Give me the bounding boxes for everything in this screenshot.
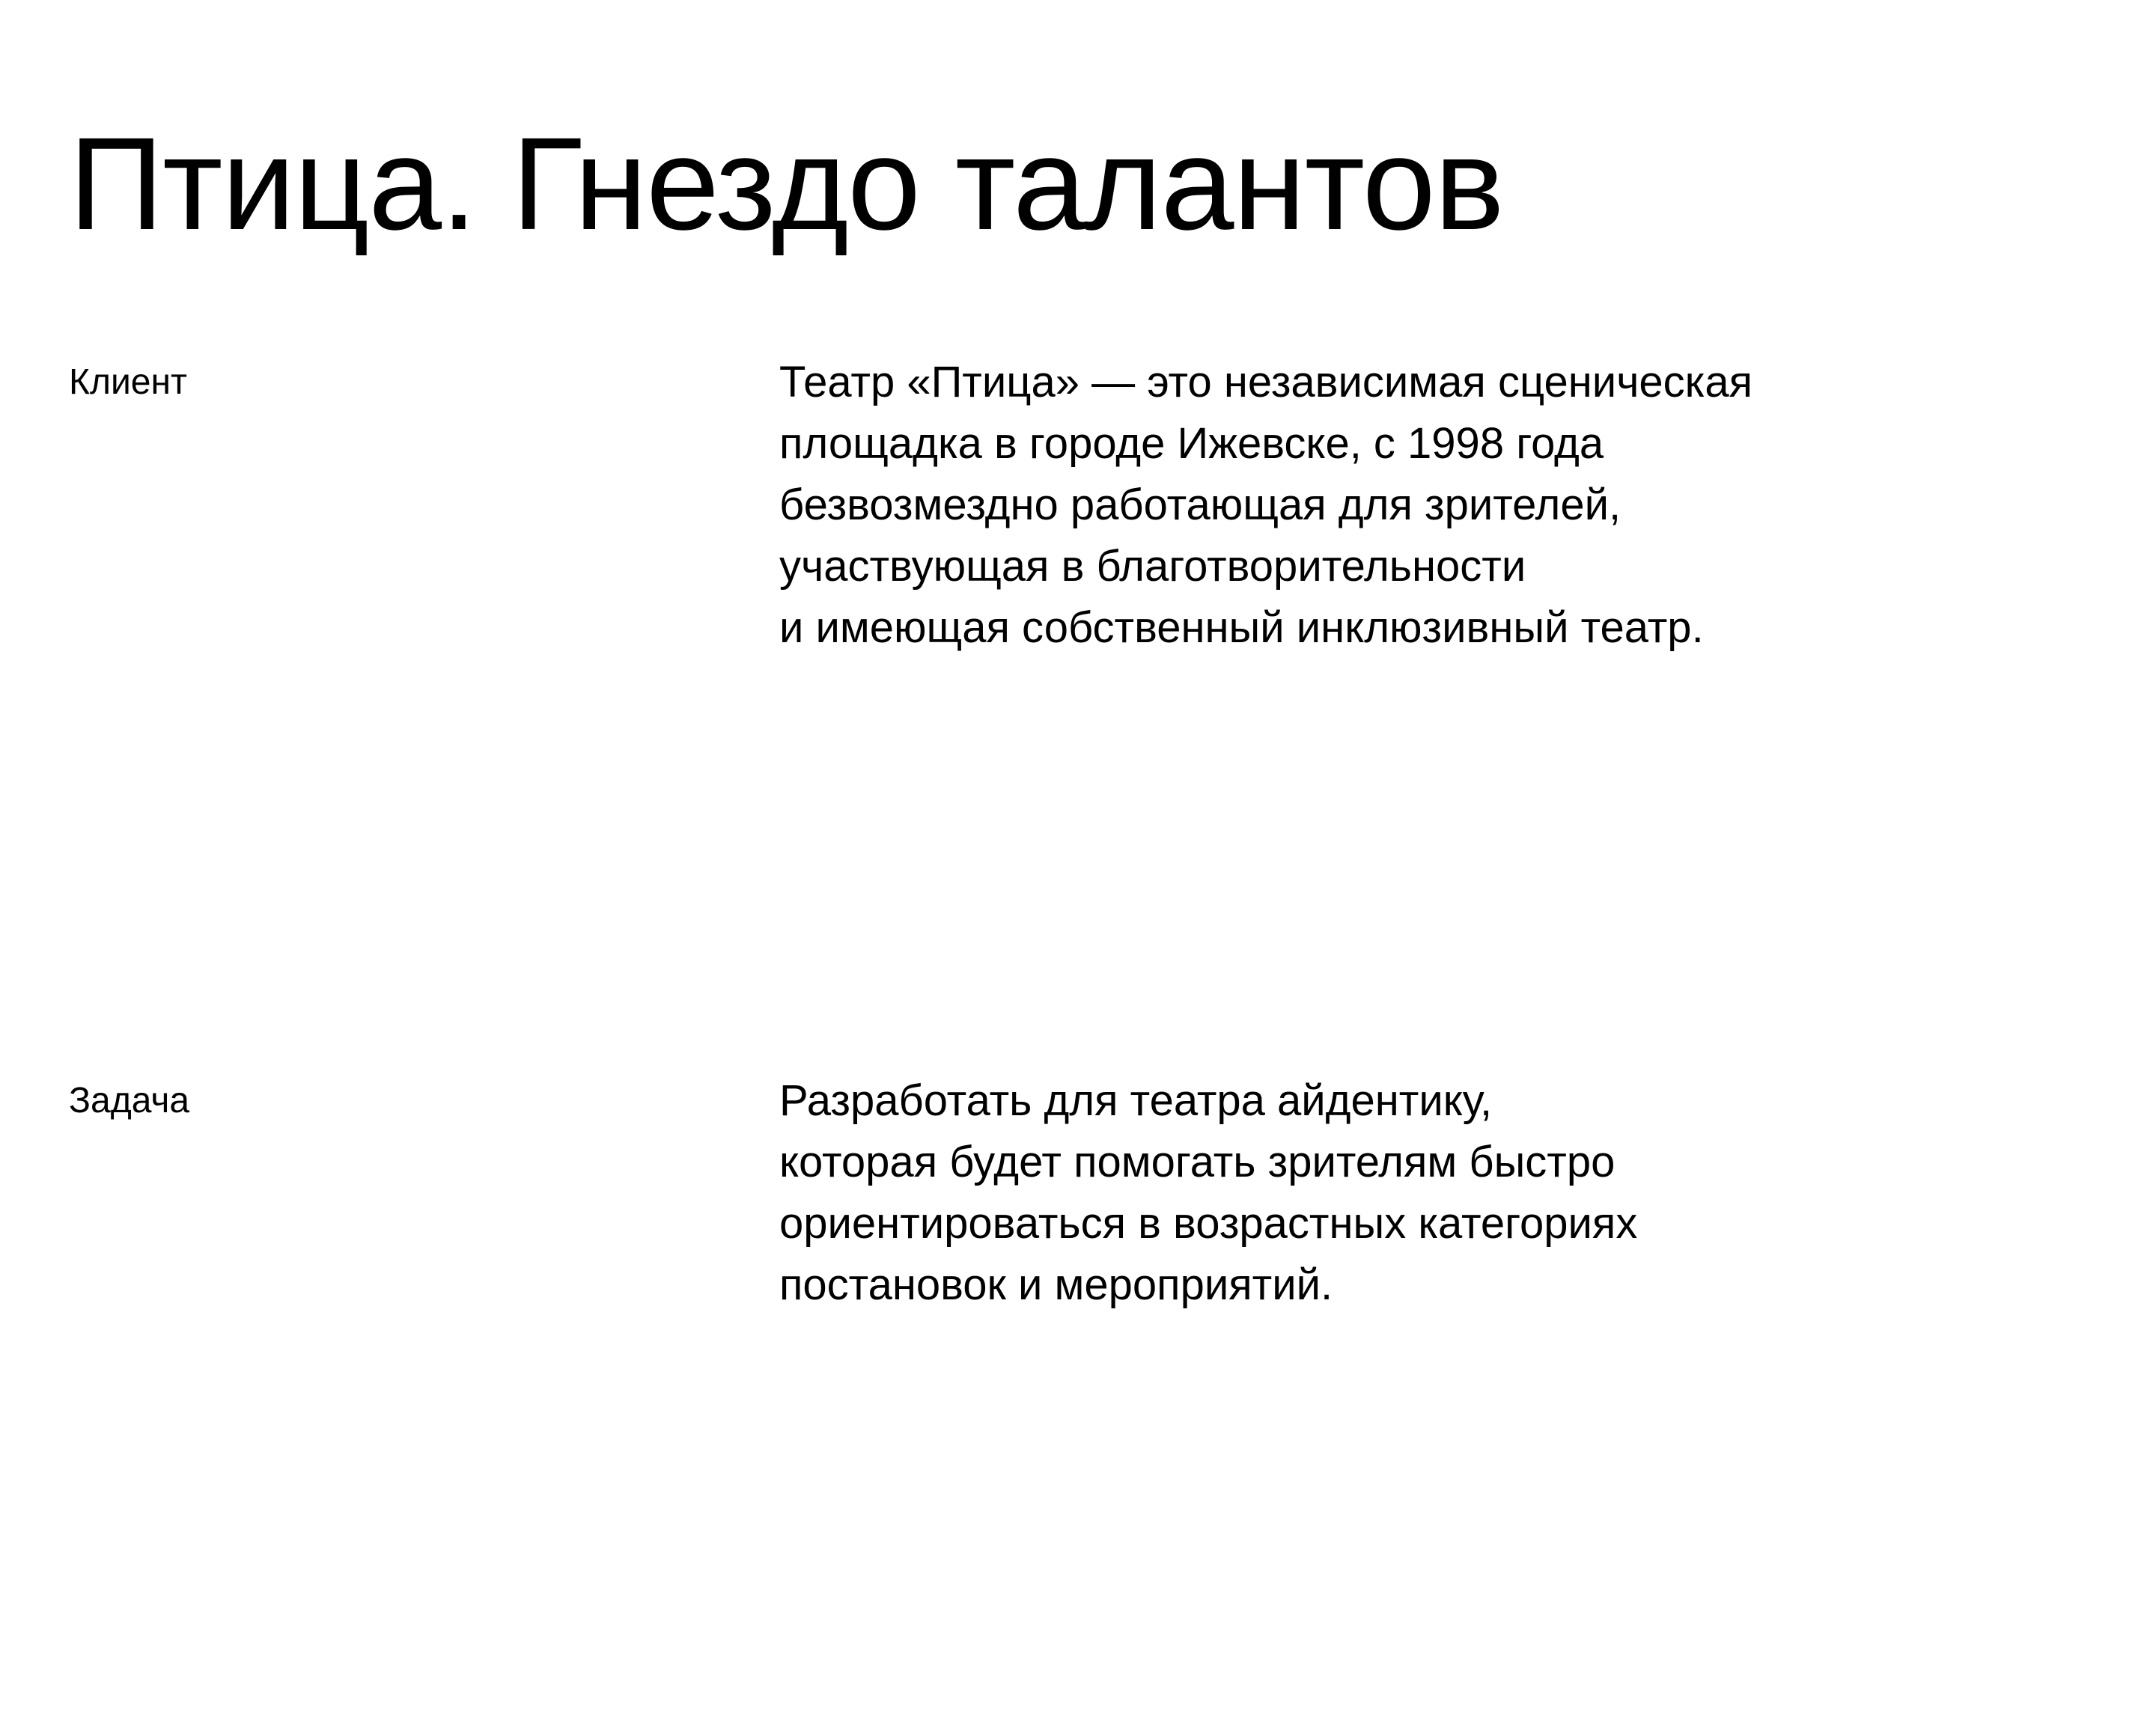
row-label-task: Задача <box>0 1070 779 1132</box>
body-line: участвующая в благотворительности <box>779 536 2007 597</box>
body-line: и имеющая собственный инклюзивный театр. <box>779 597 2007 659</box>
body-line: Разработать для театра айдентику, <box>779 1070 2007 1132</box>
page-title: Птица. Гнездо талантов <box>69 109 2015 260</box>
row-body-task: Разработать для театра айдентику, котора… <box>779 1070 2007 1316</box>
presentation-slide: Птица. Гнездо талантов Клиент Театр «Пти… <box>0 0 2156 1729</box>
info-row-client: Клиент Театр «Птица» — это независимая с… <box>0 352 2156 659</box>
row-label-client: Клиент <box>0 352 779 413</box>
body-line: ориентироваться в возрастных категориях <box>779 1193 2007 1254</box>
body-line: площадка в городе Ижевске, с 1998 года <box>779 413 2007 475</box>
body-line: постановок и мероприятий. <box>779 1254 2007 1316</box>
body-line: Театр «Птица» — это независимая сценичес… <box>779 352 2007 413</box>
body-line: безвозмездно работающая для зрителей, <box>779 475 2007 536</box>
info-row-task: Задача Разработать для театра айдентику,… <box>0 1070 2156 1316</box>
body-line: которая будет помогать зрителям быстро <box>779 1132 2007 1193</box>
row-body-client: Театр «Птица» — это независимая сценичес… <box>779 352 2007 659</box>
